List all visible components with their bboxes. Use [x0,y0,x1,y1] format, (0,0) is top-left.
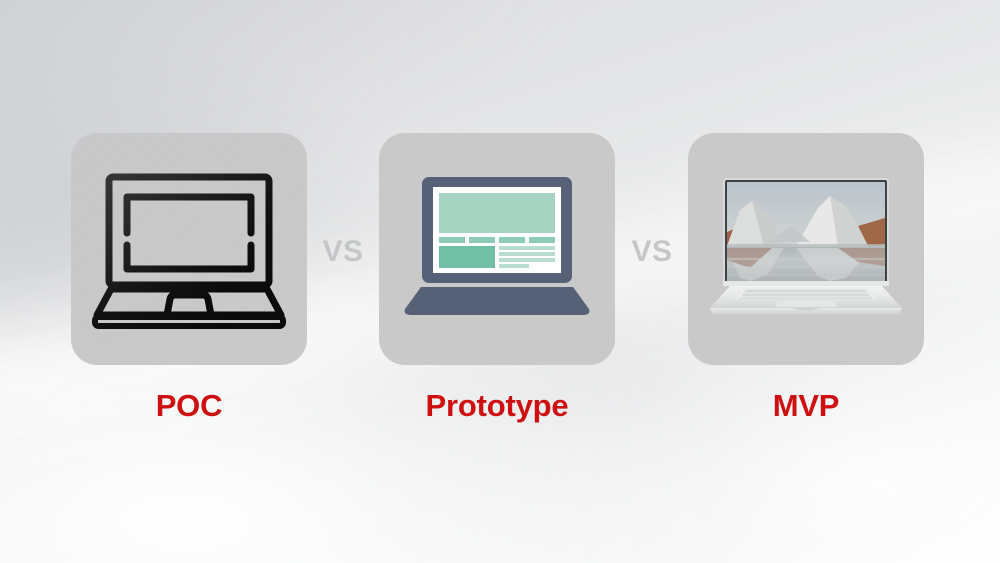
card-prototype[interactable] [379,133,615,365]
vs-separator-1: VS [308,232,378,272]
laptop-outline-icon [71,133,307,365]
laptop-wireframe-icon [379,133,615,365]
laptop-photo-icon [688,133,924,365]
label-mvp: MVP [688,385,924,427]
label-poc: POC [71,385,307,427]
card-mvp[interactable] [688,133,924,365]
label-prototype: Prototype [379,385,615,427]
comparison-graphic: VS VS POC Prototype MVP [0,0,1000,563]
card-poc[interactable] [71,133,307,365]
cards-row: VS VS POC Prototype MVP [0,0,1000,563]
vs-separator-2: VS [617,232,687,272]
